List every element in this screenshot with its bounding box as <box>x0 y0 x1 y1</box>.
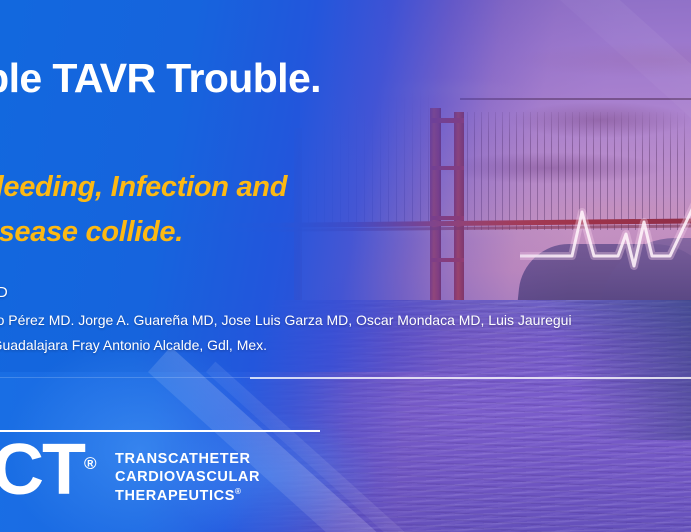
divider-line-left <box>0 377 250 378</box>
presentation-slide: riple TAVR Trouble. en Bleeding, Infecti… <box>0 0 691 532</box>
tct-wordmark-line-3-label: THERAPEUTICS <box>115 487 235 503</box>
tct-registered-mark: ® <box>84 454 95 473</box>
tct-wordmark-line-3: THERAPEUTICS® <box>115 487 260 506</box>
tct-wordmark-registered-mark: ® <box>235 487 242 496</box>
tct-logo-text: TCT® <box>0 434 95 506</box>
slide-title: riple TAVR Trouble. <box>0 55 321 102</box>
tct-wordmark-line-1: TRANSCATHETER <box>115 451 260 469</box>
presenter-name: zar, MD <box>0 284 8 301</box>
tct-crf-logo: RF® TCT® TRANSCATHETER CARDIOVASCULAR TH… <box>0 391 284 516</box>
slide-subtitle-line-2: ve disease collide. <box>0 210 287 255</box>
slide-subtitle: en Bleeding, Infection and ve disease co… <box>0 165 287 255</box>
tct-wordmark-line-2: CARDIOVASCULAR <box>115 469 260 487</box>
coauthor-list: Alberto Pérez MD. Jorge A. Guareña MD, J… <box>0 312 572 328</box>
tct-wordmark: TRANSCATHETER CARDIOVASCULAR THERAPEUTIC… <box>115 451 260 505</box>
tct-logo-label: TCT <box>0 430 84 510</box>
institution-affiliation: il de Guadalajara Fray Antonio Alcalde, … <box>0 337 267 353</box>
divider-line <box>250 377 691 379</box>
slide-subtitle-line-1: en Bleeding, Infection and <box>0 171 287 203</box>
